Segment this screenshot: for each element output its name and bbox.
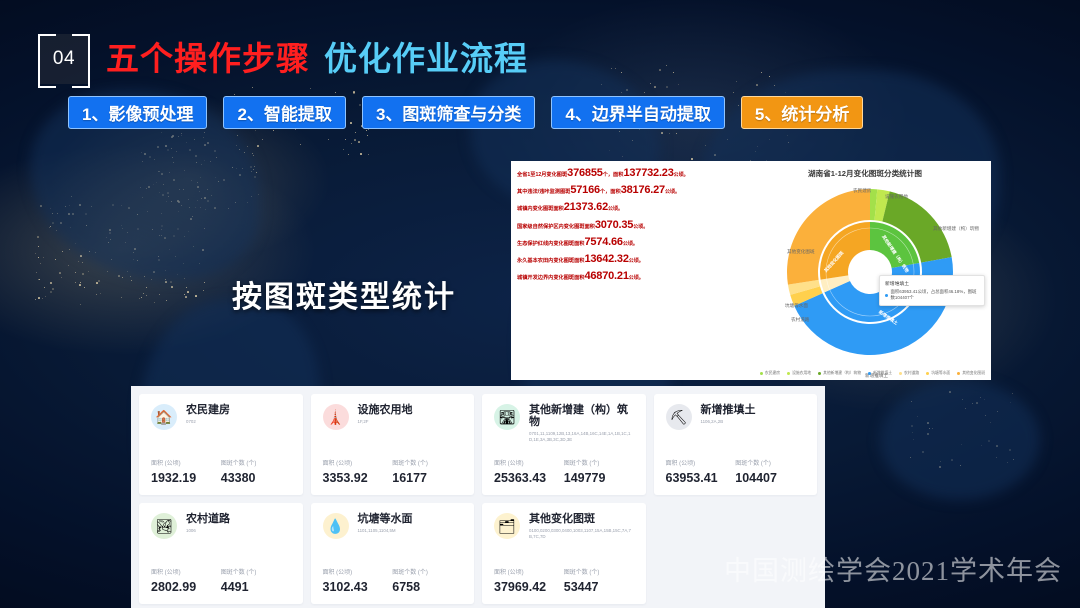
metric-count: 图斑个数 (个) 149779 [564, 458, 634, 485]
chart-slice-label: 农村道路 [791, 317, 809, 323]
metric-area: 面积 (公顷) 25363.43 [494, 458, 564, 485]
section-number: 04 [53, 48, 75, 70]
category-code: 1F,2F [358, 419, 413, 425]
metric-value: 104407 [735, 471, 805, 485]
stat-value: 376855 [567, 167, 603, 179]
card-header: 🗼 设施农用地 1F,2F [323, 404, 463, 430]
metric-value: 37969.42 [494, 580, 564, 594]
stat-value: 57166 [570, 184, 600, 196]
category-name: 农村道路 [186, 513, 230, 525]
card-title-block: 新增推填土 1106,2A,2B [701, 404, 756, 425]
metric-count: 图斑个数 (个) 16177 [392, 458, 462, 485]
category-code: 0702 [186, 419, 230, 425]
metric-value: 2802.99 [151, 580, 221, 594]
step-button-3[interactable]: 3、图斑筛查与分类 [362, 96, 535, 129]
chart-legend: 农民建房设施农用地其他新增建（构）筑物新增推填土农村道路坑塘等水面其他变化图斑 [739, 371, 985, 376]
classification-pie-chart: 湖南省1-12月变化图斑分类统计图 其他变化图斑农民建房设施农用地其他新增建（构… [739, 163, 991, 380]
card-title-block: 农民建房 0702 [186, 404, 230, 425]
card-header: 💧 坑塘等水面 1101,1105,1104,5M [323, 513, 463, 539]
metric-value: 3102.43 [323, 580, 393, 594]
card-title-block: 农村道路 1006 [186, 513, 230, 534]
category-card[interactable]: 🗼 设施农用地 1F,2F 面积 (公顷) 3353.92 图斑个数 (个) 1… [311, 394, 475, 495]
stat-label: 生态保护红线内变化图斑面积 [517, 242, 584, 248]
metric-value: 1932.19 [151, 471, 221, 485]
category-card[interactable]: ⛏ 新增推填土 1106,2A,2B 面积 (公顷) 63953.41 图斑个数… [654, 394, 818, 495]
category-name: 新增推填土 [701, 404, 756, 416]
stat-unit: 公顷。 [623, 242, 638, 248]
category-icon: 🗼 [323, 404, 349, 430]
category-icon: 💧 [323, 513, 349, 539]
stat-label: 全省1至12月变化图斑 [517, 173, 567, 179]
category-code: 1101,1105,1104,5M [358, 528, 413, 534]
stat-unit: 公顷。 [608, 207, 623, 213]
legend-label: 设施农用地 [792, 371, 811, 376]
stat-mid: 个，面积 [600, 190, 621, 196]
card-title-block: 其他变化图斑 0100,0200,0300,0400,1003,1107,15A… [529, 513, 634, 540]
stat-label: 城镇开发边界内变化图斑面积 [517, 276, 584, 282]
metric-label: 图斑个数 (个) [221, 458, 291, 467]
metric-label: 面积 (公顷) [151, 567, 221, 576]
metric-count: 图斑个数 (个) 104407 [735, 458, 805, 485]
legend-label: 新增推填土 [873, 371, 892, 376]
metric-value: 53447 [564, 580, 634, 594]
metric-label: 面积 (公顷) [323, 567, 393, 576]
page-title-secondary: 优化作业流程 [324, 40, 528, 77]
conference-watermark: 中国测绘学会2021学术年会 [724, 549, 1062, 588]
category-icon: ⛏ [666, 404, 692, 430]
chart-title: 湖南省1-12月变化图斑分类统计图 [739, 168, 991, 179]
card-metrics: 面积 (公顷) 1932.19 图斑个数 (个) 43380 [151, 458, 291, 485]
stat-value: 7574.66 [584, 236, 622, 248]
legend-swatch [818, 372, 821, 375]
card-title-block: 其他新增建（构）筑物 0701,11,1109,12B,13,16A,14B,1… [529, 404, 634, 443]
card-title-block: 坑塘等水面 1101,1105,1104,5M [358, 513, 413, 534]
stat-unit: 公顷。 [633, 225, 648, 231]
metric-value: 25363.43 [494, 471, 564, 485]
metric-label: 图斑个数 (个) [735, 458, 805, 467]
category-card[interactable]: 🏞 农村道路 1006 面积 (公顷) 2802.99 图斑个数 (个) 449… [139, 503, 303, 604]
dashboard-screenshot: 全省1至12月变化图斑376855个，面积137732.23公顷。其中违法/违咔… [511, 161, 991, 380]
category-name: 农民建房 [186, 404, 230, 416]
category-icon-glyph: ⛏ [670, 410, 688, 424]
metric-count: 图斑个数 (个) 53447 [564, 567, 634, 594]
category-icon: 🏠 [151, 404, 177, 430]
card-metrics: 面积 (公顷) 63953.41 图斑个数 (个) 104407 [666, 458, 806, 485]
card-header: 🏞 农村道路 1006 [151, 513, 291, 539]
step-nav: 1、影像预处理2、智能提取3、图斑筛查与分类4、边界半自动提取5、统计分析 [68, 96, 863, 129]
donut-svg [785, 187, 955, 357]
tooltip-series-dot [885, 294, 888, 297]
category-name: 坑塘等水面 [358, 513, 413, 525]
legend-item[interactable]: 坑塘等水面 [926, 371, 950, 376]
summary-stat-line: 生态保护红线内变化图斑面积7574.66公顷。 [517, 236, 735, 248]
legend-label: 其他变化图斑 [962, 371, 985, 376]
stat-value: 21373.62 [564, 201, 608, 213]
legend-swatch [957, 372, 960, 375]
metric-value: 149779 [564, 471, 634, 485]
category-icon-glyph: 🏞 [155, 519, 173, 533]
category-card[interactable]: 🏠 农民建房 0702 面积 (公顷) 1932.19 图斑个数 (个) 433… [139, 394, 303, 495]
summary-stat-line: 其中违法/违咔监测图斑57166个，面积38176.27公顷。 [517, 184, 735, 196]
tooltip-text: 面积63953.41公顷，占总面积46.18%，图斑数104407个 [891, 289, 980, 301]
card-metrics: 面积 (公顷) 3353.92 图斑个数 (个) 16177 [323, 458, 463, 485]
card-title-block: 设施农用地 1F,2F [358, 404, 413, 425]
category-code: 1106,2A,2B [701, 419, 756, 425]
card-header: 🗂 其他变化图斑 0100,0200,0300,0400,1003,1107,1… [494, 513, 634, 540]
step-button-2[interactable]: 2、智能提取 [223, 96, 345, 129]
step-button-4[interactable]: 4、边界半自动提取 [551, 96, 724, 129]
legend-swatch [787, 372, 790, 375]
category-code: 1006 [186, 528, 230, 534]
stat-unit: 公顷。 [629, 276, 644, 282]
metric-label: 面积 (公顷) [323, 458, 393, 467]
stat-value: 13642.32 [584, 253, 628, 265]
step-button-1[interactable]: 1、影像预处理 [68, 96, 207, 129]
card-metrics: 面积 (公顷) 37969.42 图斑个数 (个) 53447 [494, 567, 634, 594]
metric-label: 图斑个数 (个) [392, 458, 462, 467]
stat-value-secondary: 137732.23 [623, 167, 673, 179]
stat-unit: 公顷。 [629, 259, 644, 265]
stat-unit: 公顷。 [665, 190, 680, 196]
metric-value: 3353.92 [323, 471, 393, 485]
category-card[interactable]: 🛣 其他新增建（构）筑物 0701,11,1109,12B,13,16A,14B… [482, 394, 646, 495]
summary-stats-list: 全省1至12月变化图斑376855个，面积137732.23公顷。其中违法/违咔… [517, 167, 735, 287]
metric-value: 16177 [392, 471, 462, 485]
metric-area: 面积 (公顷) 2802.99 [151, 567, 221, 594]
summary-stat-line: 永久基本农田内变化图斑面积13642.32公顷。 [517, 253, 735, 265]
metric-label: 图斑个数 (个) [564, 567, 634, 576]
metric-count: 图斑个数 (个) 6758 [392, 567, 462, 594]
card-metrics: 面积 (公顷) 2802.99 图斑个数 (个) 4491 [151, 567, 291, 594]
legend-item[interactable]: 农民建房 [760, 371, 780, 376]
legend-swatch [926, 372, 929, 375]
card-header: 🛣 其他新增建（构）筑物 0701,11,1109,12B,13,16A,14B… [494, 404, 634, 443]
metric-label: 图斑个数 (个) [221, 567, 291, 576]
legend-item[interactable]: 农村道路 [899, 371, 919, 376]
stat-value: 3070.35 [595, 219, 633, 231]
stat-label: 其中违法/违咔监测图斑 [517, 190, 570, 196]
category-icon-glyph: 💧 [327, 519, 344, 533]
continent-shape [880, 380, 1040, 500]
card-header: ⛏ 新增推填土 1106,2A,2B [666, 404, 806, 430]
metric-label: 面积 (公顷) [494, 567, 564, 576]
step-button-5[interactable]: 5、统计分析 [741, 96, 863, 129]
legend-item[interactable]: 其他新增建（构）筑物 [818, 371, 861, 376]
section-label: 按图斑类型统计 [232, 272, 456, 316]
stat-label: 城镇内变化图斑面积 [517, 207, 564, 213]
legend-label: 坑塘等水面 [931, 371, 950, 376]
category-name: 其他变化图斑 [529, 513, 634, 525]
page-title: 五个操作步骤优化作业流程 [106, 32, 528, 80]
chart-slice-label: 其他新增建（构）筑物 [933, 226, 979, 232]
summary-stat-line: 国家级自然保护区内变化图斑面积3070.35公顷。 [517, 219, 735, 231]
category-name: 其他新增建（构）筑物 [529, 404, 634, 428]
category-code: 0100,0200,0300,0400,1003,1107,15A,15B,15… [529, 528, 634, 540]
stat-unit: 公顷。 [674, 173, 689, 179]
metric-label: 面积 (公顷) [494, 458, 564, 467]
summary-stat-line: 全省1至12月变化图斑376855个，面积137732.23公顷。 [517, 167, 735, 179]
category-icon: 🗂 [494, 513, 520, 539]
metric-area: 面积 (公顷) 3102.43 [323, 567, 393, 594]
metric-area: 面积 (公顷) 1932.19 [151, 458, 221, 485]
category-icon-glyph: 🗼 [327, 410, 344, 424]
page-title-primary: 五个操作步骤 [106, 40, 310, 77]
summary-stat-line: 城镇开发边界内变化图斑面积46870.21公顷。 [517, 270, 735, 282]
chart-tooltip: 新增堆填土 面积63953.41公顷，占总面积46.18%，图斑数104407个 [879, 275, 985, 306]
legend-item[interactable]: 其他变化图斑 [957, 371, 985, 376]
metric-area: 面积 (公顷) 63953.41 [666, 458, 736, 485]
legend-item[interactable]: 设施农用地 [787, 371, 811, 376]
tooltip-title: 新增堆填土 [885, 280, 979, 287]
metric-count: 图斑个数 (个) 4491 [221, 567, 291, 594]
category-icon: 🛣 [494, 404, 520, 430]
card-metrics: 面积 (公顷) 3102.43 图斑个数 (个) 6758 [323, 567, 463, 594]
legend-swatch [899, 372, 902, 375]
category-icon: 🏞 [151, 513, 177, 539]
stat-value: 46870.21 [584, 270, 628, 282]
tooltip-row: 面积63953.41公顷，占总面积46.18%，图斑数104407个 [885, 289, 979, 301]
stat-value-secondary: 38176.27 [621, 184, 665, 196]
category-name: 设施农用地 [358, 404, 413, 416]
metric-value: 4491 [221, 580, 291, 594]
metric-label: 面积 (公顷) [666, 458, 736, 467]
legend-label: 其他新增建（构）筑物 [823, 371, 861, 376]
metric-value: 63953.41 [666, 471, 736, 485]
chart-slice-label: 其他变化图斑 [787, 249, 815, 255]
metric-value: 6758 [392, 580, 462, 594]
legend-item[interactable]: 新增推填土 [868, 371, 892, 376]
stat-mid: 个，面积 [603, 173, 624, 179]
category-icon-glyph: 🗂 [498, 519, 516, 533]
card-header: 🏠 农民建房 0702 [151, 404, 291, 430]
stat-label: 永久基本农田内变化图斑面积 [517, 259, 584, 265]
metric-value: 43380 [221, 471, 291, 485]
section-number-badge: 04 [38, 34, 90, 84]
category-card[interactable]: 🗂 其他变化图斑 0100,0200,0300,0400,1003,1107,1… [482, 503, 646, 604]
category-code: 0701,11,1109,12B,13,16A,14B,16C,14E,1A,1… [529, 431, 634, 443]
card-metrics: 面积 (公顷) 25363.43 图斑个数 (个) 149779 [494, 458, 634, 485]
chart-slice-label: 设施农用地 [885, 194, 908, 200]
category-card-grid: 🏠 农民建房 0702 面积 (公顷) 1932.19 图斑个数 (个) 433… [131, 386, 825, 608]
metric-area: 面积 (公顷) 3353.92 [323, 458, 393, 485]
metric-label: 图斑个数 (个) [564, 458, 634, 467]
summary-stat-line: 城镇内变化图斑面积21373.62公顷。 [517, 201, 735, 213]
category-icon-glyph: 🏠 [155, 410, 172, 424]
legend-swatch [868, 372, 871, 375]
legend-swatch [760, 372, 763, 375]
stat-label: 国家级自然保护区内变化图斑面积 [517, 225, 595, 231]
metric-label: 面积 (公顷) [151, 458, 221, 467]
chart-slice-label: 农民建房 [853, 188, 871, 194]
legend-label: 农民建房 [765, 371, 780, 376]
chart-slice-label: 坑塘等水面 [785, 303, 808, 309]
metric-label: 图斑个数 (个) [392, 567, 462, 576]
metric-count: 图斑个数 (个) 43380 [221, 458, 291, 485]
category-card[interactable]: 💧 坑塘等水面 1101,1105,1104,5M 面积 (公顷) 3102.4… [311, 503, 475, 604]
legend-label: 农村道路 [904, 371, 919, 376]
metric-area: 面积 (公顷) 37969.42 [494, 567, 564, 594]
category-icon-glyph: 🛣 [498, 410, 516, 424]
